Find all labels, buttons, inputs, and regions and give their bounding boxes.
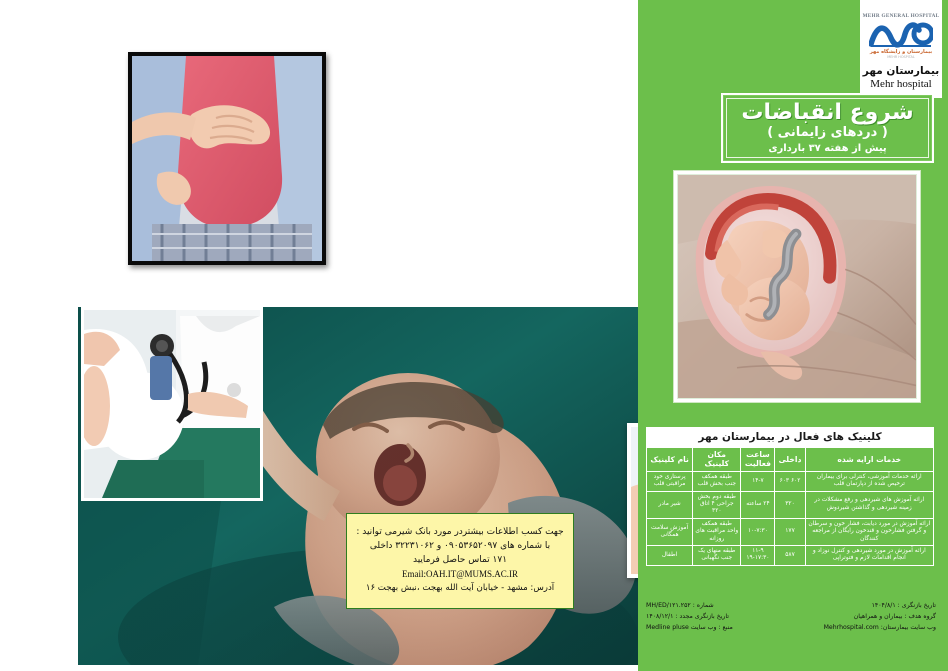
cell-extension: ۶۰۲ ۶۰۳ — [775, 471, 805, 491]
col-hours: ساعت فعالیت — [741, 448, 775, 472]
poster-root: جهت کسب اطلاعات بیشتردر مورد بانک شیرمی … — [0, 0, 948, 671]
contact-line-2: با شماره های ۰۹۰۵۳۶۵۲۰۹۷ و ۳۲۲۳۱۰۶۲ داخل… — [370, 540, 550, 554]
contact-email[interactable]: Email:OAH.IT@MUMS.AC.IR — [402, 568, 518, 582]
footer-site: وب سایت بیمارستان: Mehrhospital.com — [824, 623, 936, 634]
page-subtitle-2: پیش از هفته ۳۷ بارداری — [768, 143, 886, 155]
left-green-panel: MEHR GENERAL HOSPITAL بیمارستان و زایشگا… — [638, 0, 948, 671]
cell-hours: ۱۱-۹ ۱۹-۱۷:۳۰ — [741, 545, 775, 565]
cell-services: ارائه آموزش های شیردهی و رفع مشکلات در ز… — [805, 491, 933, 518]
contact-address: آدرس: مشهد - خیابان آیت الله بهجت ،نبش ب… — [366, 582, 554, 595]
footer-audience-label: گروه هدف : — [904, 613, 936, 620]
table-header-row: خدمات ارایه شده داخلی ساعت فعالیت مکان ک… — [647, 448, 934, 472]
cell-clinic: پرستاری خود مراقبتی قلب — [647, 471, 693, 491]
contact-line-1: جهت کسب اطلاعات بیشتردر مورد بانک شیرمی … — [356, 526, 563, 540]
table-row: ارائه خدمات آموزشی، کنترلی برای بیماران … — [647, 471, 934, 491]
col-extension: داخلی — [775, 448, 805, 472]
cell-hours: ۲۴ ساعته — [741, 491, 775, 518]
footer-site-value[interactable]: Mehrhospital.com — [824, 623, 879, 634]
footer-audience-value: بیماران و همراهیان — [854, 613, 903, 620]
page-subtitle: ( دردهای زایمانی ) — [767, 125, 888, 141]
cell-clinic: آموزش سلامت همگانی — [647, 518, 693, 545]
col-clinic: نام کلینیک — [647, 448, 693, 472]
contact-box: جهت کسب اطلاعات بیشتردر مورد بانک شیرمی … — [346, 513, 574, 609]
footer-source: منبع : وب سایت Medline pluse — [646, 623, 733, 634]
footer-review-label: تاریخ بازنگری : — [898, 602, 936, 609]
clinics-table-caption: کلینیک های فعال در بیمارستان مهر — [646, 427, 934, 447]
cell-location: طبقه منهای یک جنب نگهبانی — [693, 545, 741, 565]
hospital-name-fa: بیمارستان مهر — [860, 65, 942, 77]
footer-code-value: MH/ED/۱۲۱.۲۵۲ — [646, 601, 691, 612]
title-banner: شروع انقباضات ( دردهای زایمانی ) پیش از … — [721, 93, 934, 163]
mo-wave-logo-icon — [869, 20, 933, 48]
footer-code: شماره : MH/ED/۱۲۱.۲۵۲ — [646, 601, 714, 612]
pregnant-belly-photo — [128, 52, 326, 265]
clinics-table: کلینیک های فعال در بیمارستان مهر خدمات ا… — [646, 427, 934, 566]
logo-top-text: MEHR GENERAL HOSPITAL — [860, 0, 942, 19]
hospital-name-en: Mehr hospital — [860, 78, 942, 90]
footer-source-value: وب سایت Medline pluse — [646, 624, 716, 631]
hospital-logo-card: MEHR GENERAL HOSPITAL بیمارستان و زایشگا… — [860, 0, 942, 98]
cell-services: ارائه خدمات آموزشی، کنترلی برای بیماران … — [805, 471, 933, 491]
footer-review-value: ۱۴۰۴/۸/۱ — [872, 601, 896, 612]
cell-hours: ۱۰-۷:۳۰ — [741, 518, 775, 545]
footer-source-label: منبع : — [718, 624, 732, 631]
footer-review-date: تاریخ بازنگری : ۱۴۰۴/۸/۱ — [872, 601, 936, 612]
cell-services: ارائه آموزش در مورد شیردهی و کنترل نوزاد… — [805, 545, 933, 565]
footer-audience: گروه هدف : بیماران و همراهیان — [854, 612, 936, 623]
fetus-illustration-frame — [673, 170, 921, 403]
footer-site-label: وب سایت بیمارستان: — [881, 624, 936, 631]
col-location: مکان کلینیک — [693, 448, 741, 472]
cell-location: طبقه همکف جنب بخش قلب — [693, 471, 741, 491]
table-row: ارائه آموزش در مورد دیابت، فشار خون و سر… — [647, 518, 934, 545]
cell-clinic: شیر مادر — [647, 491, 693, 518]
logo-bottom-sub: MEHR HOSPITAL — [860, 55, 942, 59]
cell-location: طبقه دوم بخش جراحی ۴ اتاق ۳۲۰ — [693, 491, 741, 518]
footer-next-review-label: تاریخ بازنگری مجدد : — [675, 613, 729, 620]
cell-hours: ۱۴-۷ — [741, 471, 775, 491]
footer-next-review: تاریخ بازنگری مجدد : ۱۴۰۸/۱۲/۱ — [646, 612, 729, 623]
table-row: ارائه آموزش های شیردهی و رفع مشکلات در ز… — [647, 491, 934, 518]
footer-code-label: شماره : — [693, 602, 714, 609]
cell-extension: ۵۸۷ — [775, 545, 805, 565]
photo-stage: جهت کسب اطلاعات بیشتردر مورد بانک شیرمی … — [78, 0, 638, 671]
footer-next-review-value: ۱۴۰۸/۱۲/۱ — [646, 612, 673, 623]
clinics-table-wrap: کلینیک های فعال در بیمارستان مهر خدمات ا… — [646, 427, 934, 566]
blood-pressure-check-photo — [81, 307, 263, 501]
cell-extension: ۱۷۷ — [775, 518, 805, 545]
cell-services: ارائه آموزش در مورد دیابت، فشار خون و سر… — [805, 518, 933, 545]
cell-extension: ۳۲۰ — [775, 491, 805, 518]
contact-line-3: ۱۷۱ تماس حاصل فرمایید — [413, 554, 507, 568]
cell-clinic: اطفال — [647, 545, 693, 565]
page-title: شروع انقباضات — [741, 101, 913, 124]
cell-location: طبقه همکف واحد مراقبت های روزانه — [693, 518, 741, 545]
col-services: خدمات ارایه شده — [805, 448, 933, 472]
table-row: ارائه آموزش در مورد شیردهی و کنترل نوزاد… — [647, 545, 934, 565]
footer-meta: تاریخ بازنگری : ۱۴۰۴/۸/۱ شماره : MH/ED/۱… — [646, 601, 936, 634]
